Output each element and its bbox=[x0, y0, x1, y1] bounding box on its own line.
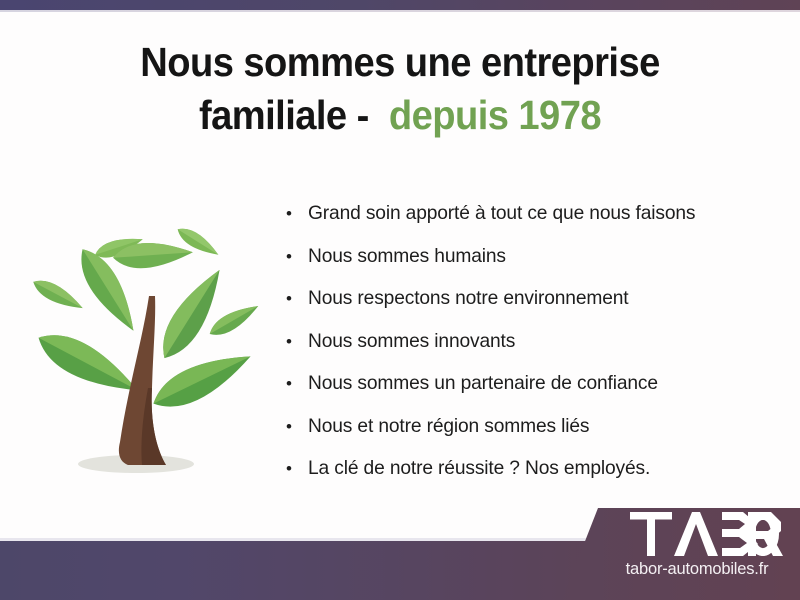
list-item: • Nous sommes un partenaire de confiance bbox=[286, 362, 766, 405]
leaf bbox=[152, 262, 233, 366]
bullet-icon: • bbox=[286, 236, 308, 279]
bullet-icon: • bbox=[286, 406, 308, 449]
list-item-label: Nous sommes innovants bbox=[308, 320, 515, 363]
list-item-label: Nous et notre région sommes liés bbox=[308, 405, 589, 448]
list-item: • La clé de notre réussite ? Nos employé… bbox=[286, 447, 766, 490]
list-item: • Nous sommes innovants bbox=[286, 320, 766, 363]
tabor-logo-tagline: tabor-automobiles.fr bbox=[602, 560, 792, 579]
list-item-label: Nous sommes un partenaire de confiance bbox=[308, 362, 658, 405]
list-item-label: La clé de notre réussite ? Nos employés. bbox=[308, 447, 650, 490]
bullet-list: • Grand soin apporté à tout ce que nous … bbox=[286, 192, 766, 490]
bullet-icon: • bbox=[286, 448, 308, 491]
tabor-logo-wordmark bbox=[630, 512, 786, 556]
title-line-2-accent: depuis 1978 bbox=[389, 92, 601, 138]
title-line-2: familiale - depuis 1978 bbox=[28, 89, 772, 142]
slide-canvas: Nous sommes une entreprise familiale - d… bbox=[0, 0, 800, 600]
leaf bbox=[31, 323, 145, 405]
leaf bbox=[146, 342, 257, 418]
bullet-icon: • bbox=[286, 193, 308, 236]
title-line-2-plain: familiale bbox=[199, 92, 347, 138]
leaf bbox=[206, 299, 262, 341]
list-item: • Grand soin apporté à tout ce que nous … bbox=[286, 192, 766, 235]
list-item-label: Nous sommes humains bbox=[308, 235, 506, 278]
bullet-icon: • bbox=[286, 321, 308, 364]
bullet-icon: • bbox=[286, 363, 308, 406]
list-item-label: Nous respectons notre environnement bbox=[308, 277, 628, 320]
slide-title: Nous sommes une entreprise familiale - d… bbox=[0, 36, 800, 142]
top-accent-band bbox=[0, 0, 800, 10]
title-line-1: Nous sommes une entreprise bbox=[28, 36, 772, 89]
bullet-icon: • bbox=[286, 278, 308, 321]
leaf bbox=[30, 275, 87, 315]
tree-illustration bbox=[16, 192, 268, 488]
list-item: • Nous respectons notre environnement bbox=[286, 277, 766, 320]
top-accent-hairline bbox=[0, 10, 800, 12]
title-line-2-dash: - bbox=[357, 92, 369, 138]
list-item: • Nous et notre région sommes liés bbox=[286, 405, 766, 448]
list-item: • Nous sommes humains bbox=[286, 235, 766, 278]
list-item-label: Grand soin apporté à tout ce que nous fa… bbox=[308, 192, 695, 235]
